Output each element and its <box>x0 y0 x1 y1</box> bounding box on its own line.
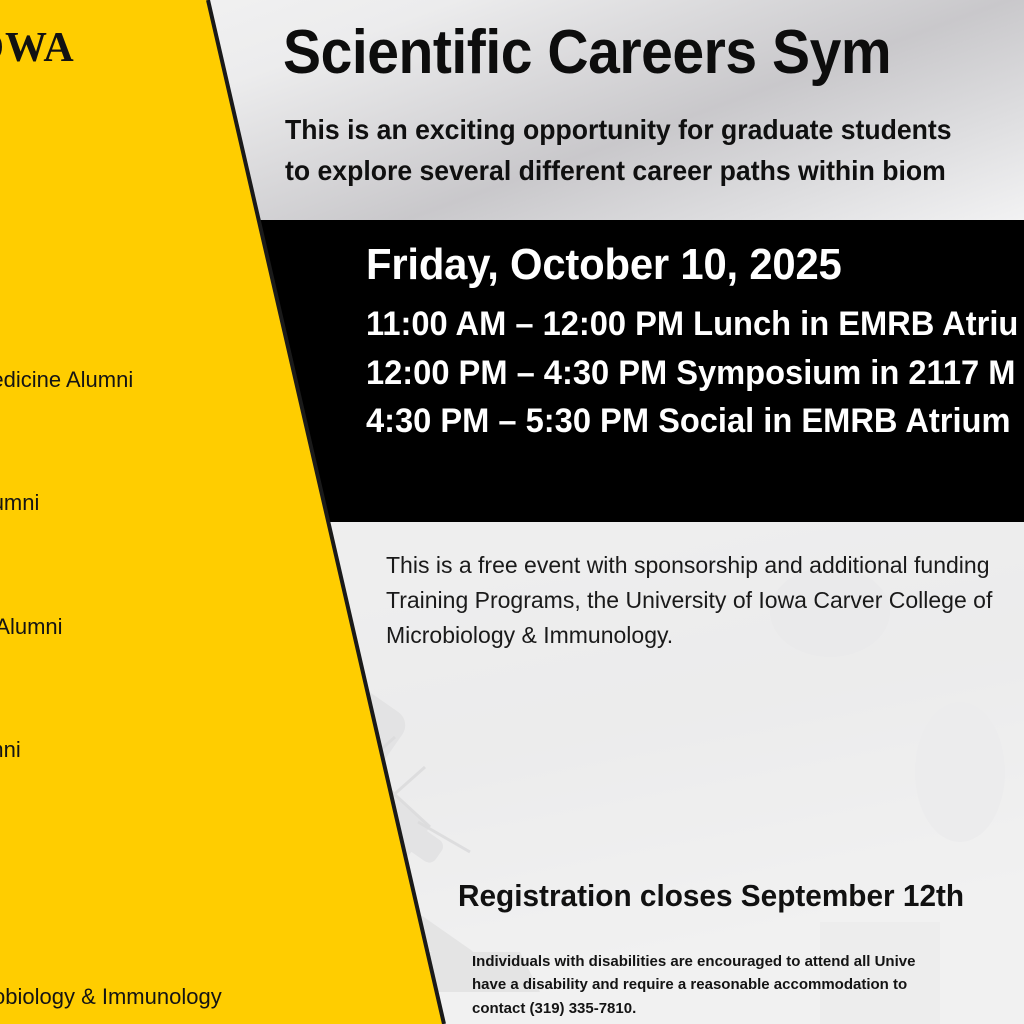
accessibility-disclaimer: Individuals with disabilities are encour… <box>472 950 915 1020</box>
schedule-item: 12:00 PM – 4:30 PM Symposium in 2117 M <box>366 349 1018 398</box>
disclaimer-line-1: Individuals with disabilities are encour… <box>472 950 915 973</box>
list-item: etics Alumni <box>0 490 39 516</box>
list-item: am Alumni <box>0 737 21 763</box>
disclaimer-line-3: contact (319) 335-7810. <box>472 997 915 1020</box>
funding-line-1: This is a free event with sponsorship an… <box>386 548 992 583</box>
schedule-item: 11:00 AM – 12:00 PM Lunch in EMRB Atriu <box>366 300 1018 349</box>
funding-paragraph: This is a free event with sponsorship an… <box>386 548 992 653</box>
poster-canvas: Scientific Careers Sym This is an exciti… <box>0 0 1024 1024</box>
header-subtitle: This is an exciting opportunity for grad… <box>285 110 952 192</box>
registration-deadline: Registration closes September 12th <box>458 878 964 914</box>
disclaimer-line-2: have a disability and require a reasonab… <box>472 973 915 996</box>
schedule-item: 4:30 PM – 5:30 PM Social in EMRB Atrium <box>366 397 1018 446</box>
list-item: munology Alumni <box>0 614 63 640</box>
page-title: Scientific Careers Sym <box>283 22 891 84</box>
header-subtitle-line-2: to explore several different career path… <box>285 151 952 192</box>
list-item: ecular Medicine Alumni <box>0 367 133 393</box>
funding-line-2: Training Programs, the University of Iow… <box>386 583 992 618</box>
department-footer: ment of Microbiology & Immunology <box>0 984 222 1010</box>
event-date-headline: Friday, October 10, 2025 <box>366 240 842 290</box>
funding-line-3: Microbiology & Immunology. <box>386 618 992 653</box>
header-subtitle-line-1: This is an exciting opportunity for grad… <box>285 110 952 151</box>
event-schedule-list: 11:00 AM – 12:00 PM Lunch in EMRB Atriu … <box>366 300 1018 446</box>
iowa-logo: IOWA <box>0 24 75 72</box>
